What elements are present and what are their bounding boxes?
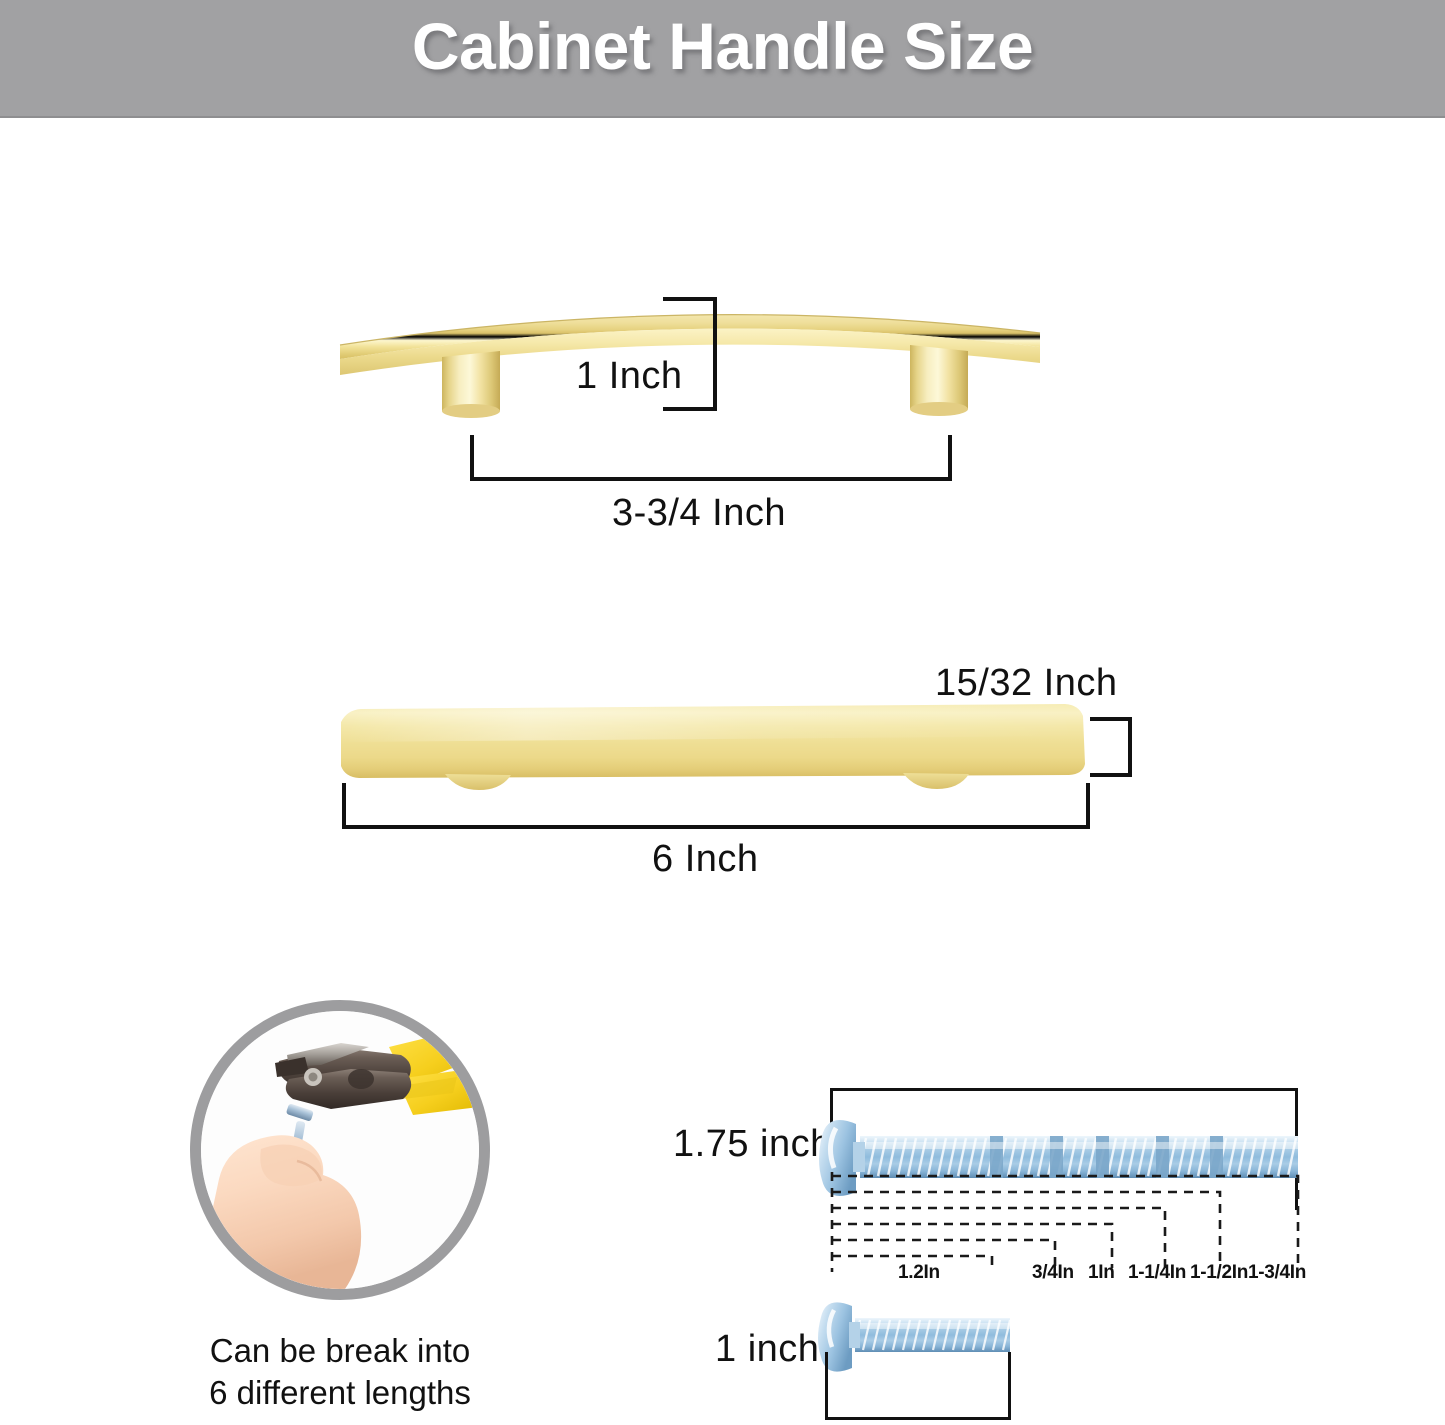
screw-short-rule <box>825 1352 1011 1420</box>
pliers-photo-circle <box>190 1000 490 1300</box>
screw-short-diagram <box>690 1290 1120 1425</box>
label-handle-height: 1 Inch <box>576 355 683 398</box>
screw-tick-label-1in: 1In <box>1088 1262 1115 1284</box>
label-thickness: 15/32 Inch <box>935 662 1117 705</box>
handle-front-sheen <box>341 704 1083 742</box>
page-title: Cabinet Handle Size <box>0 8 1445 84</box>
label-center-to-center: 3-3/4 Inch <box>612 492 786 535</box>
pliers-photo-svg <box>201 1011 479 1289</box>
bracket-center-to-center <box>470 435 952 481</box>
handle-post-right-base <box>910 402 968 416</box>
header-bar: Cabinet Handle Size <box>0 0 1445 118</box>
label-overall-length: 6 Inch <box>652 838 759 881</box>
screw-tick-label-1-2in: 1.2In <box>898 1262 940 1284</box>
screw-tick-label-1-1-2in: 1-1/2In <box>1190 1262 1248 1284</box>
screw-short-svg <box>690 1290 1120 1425</box>
bracket-overall-length <box>342 783 1090 829</box>
bracket-thickness <box>1090 717 1132 777</box>
screw-tick-label-1-3-4in: 1-3/4In <box>1248 1262 1306 1284</box>
infographic-page: Cabinet Handle Size <box>0 0 1445 1425</box>
feature-caption: Can be break into 6 different lengths <box>130 1330 550 1414</box>
handle-post-left-base <box>442 404 500 418</box>
screw-tick-label-3-4in: 3/4In <box>1032 1262 1074 1284</box>
screw-short-neck <box>849 1322 860 1348</box>
screw-tick-label-1-1-4in: 1-1/4In <box>1128 1262 1186 1284</box>
